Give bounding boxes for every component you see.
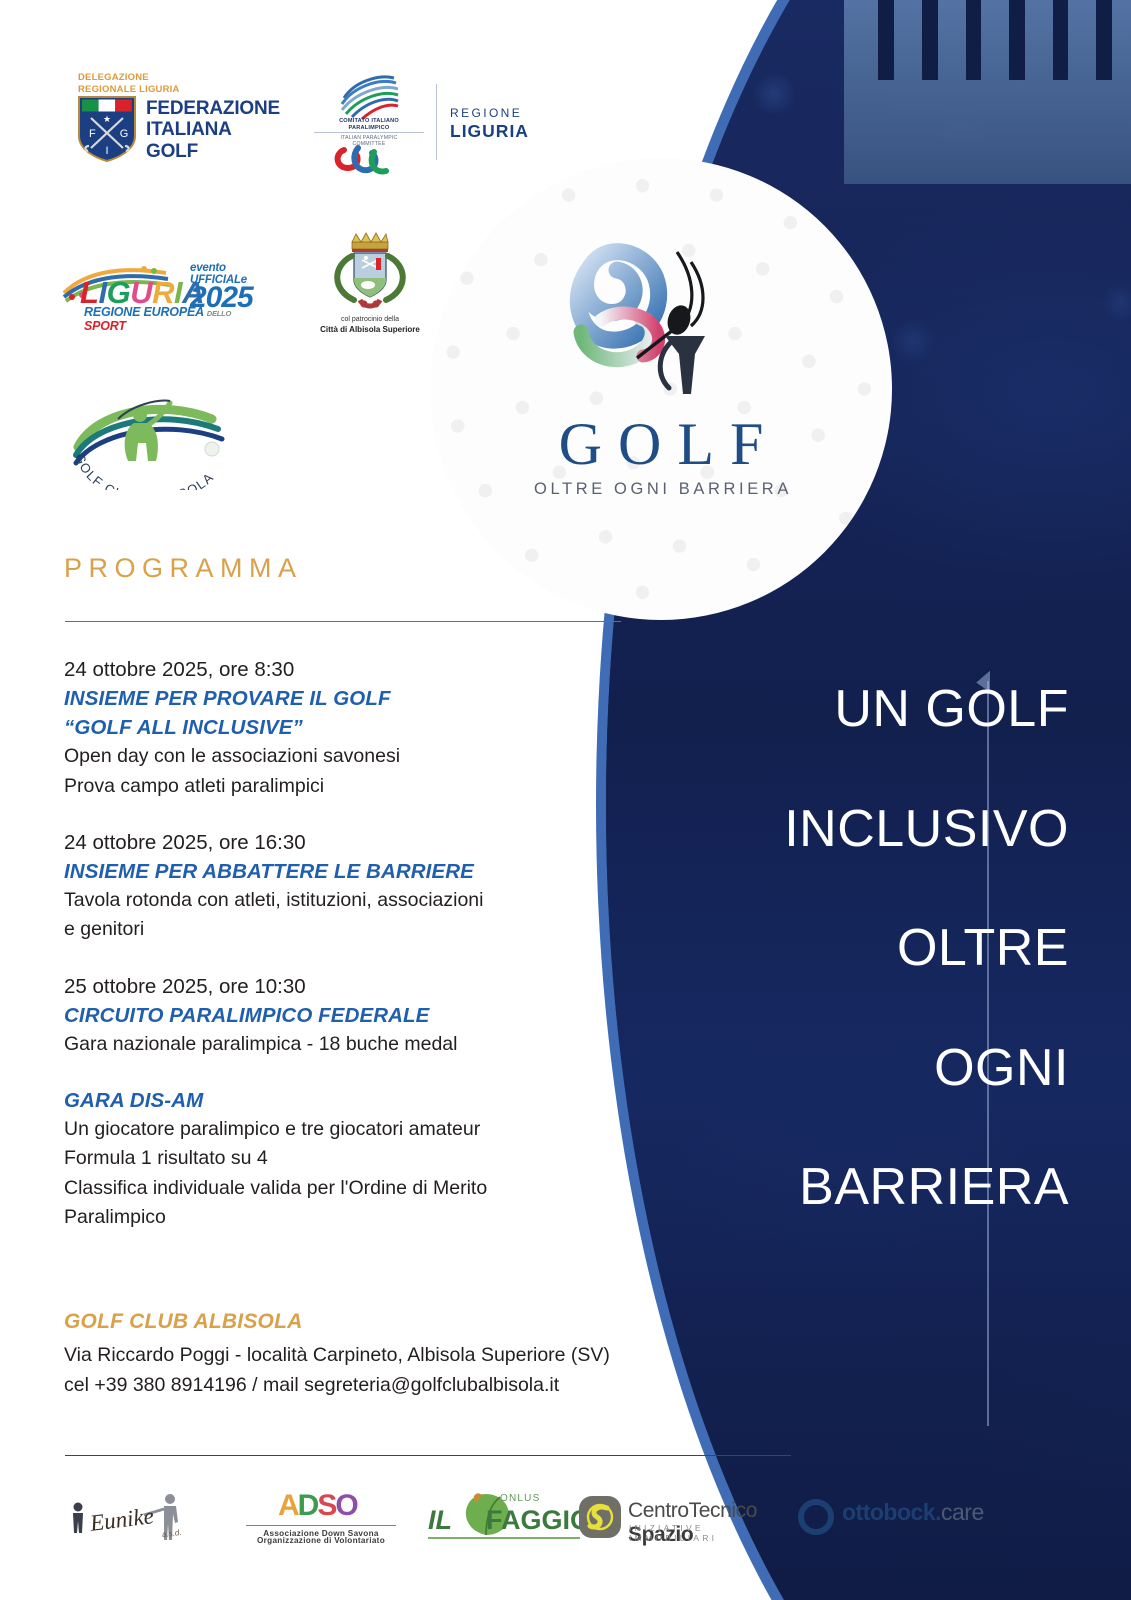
liguria-subtitle-main: REGIONE EUROPEA: [84, 305, 203, 319]
svg-text:★: ★: [103, 114, 111, 124]
eunike-logo: Eunike a.s.d.: [66, 1485, 196, 1557]
comune-albisola-superiore-logo: col patrocinio della Città di Albisola S…: [310, 230, 430, 340]
liguria-subtitle: REGIONE EUROPEA DELLO SPORT: [84, 305, 262, 333]
faggio-underline: [428, 1537, 580, 1539]
ottobock-wordmark: ottobock.care: [842, 1499, 984, 1526]
centro-tecnico-spazio-logo: CentroTecnico Spazio INIZIATIVE IMMOBILI…: [576, 1485, 796, 1557]
event-desc: Un giocatore paralimpico e tre giocatori…: [64, 1115, 654, 1144]
programma-list: 24 ottobre 2025, ore 8:30 INSIEME PER PR…: [64, 655, 654, 1259]
ottobock-mark-icon: [798, 1499, 834, 1535]
event-desc: Formula 1 risultato su 4: [64, 1144, 654, 1173]
event-title: GARA DIS-AM: [64, 1086, 654, 1115]
fig-name-line-2: ITALIANA: [146, 119, 280, 140]
cip-line-2: PARALIMPICO: [314, 125, 424, 132]
venue-name: GOLF CLUB ALBISOLA: [64, 1310, 744, 1334]
fig-shield-icon: ★ F G I: [78, 96, 136, 162]
faggio-onlus-text: ONLUS: [500, 1493, 540, 1504]
top-divider: [65, 621, 621, 622]
ottobock-bold: ottobock.: [842, 1499, 941, 1525]
fig-name-line-3: GOLF: [146, 141, 280, 162]
event-title: INSIEME PER ABBATTERE LE BARRIERE: [64, 857, 654, 886]
comune-caption-1: col patrocinio della: [310, 316, 430, 323]
svg-text:G: G: [120, 128, 129, 140]
liguria-subtitle-sport: SPORT: [84, 319, 126, 333]
il-faggio-logo: IL ONLUS FAGGIO: [428, 1485, 588, 1557]
fig-name-line-1: FEDERAZIONE: [146, 98, 280, 119]
event-subtitle: “GOLF ALL INCLUSIVE”: [64, 713, 654, 742]
ottobock-light: care: [941, 1499, 984, 1525]
bottom-divider: [65, 1455, 791, 1456]
event-desc: Open day con le associazioni savonesi: [64, 742, 654, 771]
event-desc: Paralimpico: [64, 1203, 654, 1232]
programma-heading: PROGRAMMA: [64, 553, 303, 584]
comune-coat-of-arms-icon: [310, 230, 430, 316]
centro-tecnico-mark-icon: [578, 1495, 622, 1539]
fig-delegation-line-1: DELEGAZIONE: [78, 72, 298, 84]
event-desc: Tavola rotonda con atleti, istituzioni, …: [64, 886, 654, 915]
event-date: 24 ottobre 2025, ore 8:30: [64, 655, 654, 684]
svg-text:I: I: [105, 145, 108, 157]
faggio-il-text: IL: [428, 1505, 452, 1536]
clubhouse-building: [844, 0, 1131, 184]
logo-divider: [436, 84, 437, 160]
golf-club-albisola-icon: GOLF CLUB ALBISOLA: [62, 385, 242, 490]
regione-liguria-line-1: REGIONE: [450, 106, 522, 120]
cip-globe-icon: [310, 68, 428, 120]
liguria-2025-logo: LIGURIA evento UFFICIALe 2025 REGIONE EU…: [62, 255, 262, 325]
event-title: CIRCUITO PARALIMPICO FEDERALE: [64, 1001, 654, 1030]
adso-line-2: Organizzazione di Volontariato: [246, 1536, 396, 1545]
cts-name-light: CentroTecnico: [628, 1499, 757, 1522]
event-desc: Gara nazionale paralimpica - 18 buche me…: [64, 1030, 654, 1059]
event-desc: e genitori: [64, 915, 654, 944]
liguria-subtitle-small: DELLO: [207, 309, 231, 318]
programma-block: 25 ottobre 2025, ore 10:30 CIRCUITO PARA…: [64, 972, 654, 1059]
event-desc: Prova campo atleti paralimpici: [64, 772, 654, 801]
centro-tecnico-subtitle: INIZIATIVE IMMOBILIARI: [629, 1523, 796, 1543]
cip-name-italian: COMITATO ITALIANO PARALIMPICO: [314, 118, 424, 132]
event-desc: Classifica individuale valida per l'Ordi…: [64, 1174, 654, 1203]
comune-caption-2: Città di Albisola Superiore: [310, 325, 430, 334]
event-date: 25 ottobre 2025, ore 10:30: [64, 972, 654, 1001]
agitos-icon: [334, 144, 404, 178]
federazione-italiana-golf-logo: DELEGAZIONE REGIONALE LIGURIA ★ F G I FE…: [78, 72, 298, 162]
event-title: INSIEME PER PROVARE IL GOLF: [64, 684, 654, 713]
venue-contact[interactable]: cel +39 380 8914196 / mail segreteria@go…: [64, 1371, 744, 1401]
adso-wordmark: ADSO: [278, 1489, 357, 1523]
liguria-evento-text: evento: [190, 263, 247, 275]
fig-delegation-line-2: REGIONALE LIGURIA: [78, 84, 298, 96]
golf-club-arc-text: GOLF CLUB ALBISOLA: [72, 451, 217, 490]
cip-regione-liguria-logo: COMITATO ITALIANO PARALIMPICO ITALIAN PA…: [308, 68, 488, 178]
cip-line-1: COMITATO ITALIANO: [314, 118, 424, 125]
event-date: 24 ottobre 2025, ore 16:30: [64, 828, 654, 857]
venue-info: GOLF CLUB ALBISOLA Via Riccardo Poggi - …: [64, 1310, 744, 1400]
regione-liguria-line-2: LIGURIA: [450, 121, 529, 142]
fig-name-text: FEDERAZIONE ITALIANA GOLF: [146, 98, 280, 162]
golf-club-albisola-logo: GOLF CLUB ALBISOLA: [62, 385, 242, 490]
svg-text:GOLF CLUB ALBISOLA: GOLF CLUB ALBISOLA: [72, 451, 217, 490]
fig-delegation-text: DELEGAZIONE REGIONALE LIGURIA: [78, 72, 298, 95]
programma-block: 24 ottobre 2025, ore 16:30 INSIEME PER A…: [64, 828, 654, 945]
sponsor-logo-row: Eunike a.s.d. ADSO Associazione Down Sav…: [56, 1485, 896, 1560]
programma-block: GARA DIS-AM Un giocatore paralimpico e t…: [64, 1086, 654, 1232]
programma-block: 24 ottobre 2025, ore 8:30 INSIEME PER PR…: [64, 655, 654, 801]
venue-address: Via Riccardo Poggi - località Carpineto,…: [64, 1341, 744, 1371]
svg-text:F: F: [89, 128, 96, 140]
left-content-column: DELEGAZIONE REGIONALE LIGURIA ★ F G I FE…: [0, 0, 700, 1600]
adso-logo: ADSO Associazione Down Savona Organizzaz…: [246, 1485, 396, 1557]
ottobock-logo: ottobock.care: [796, 1485, 996, 1557]
